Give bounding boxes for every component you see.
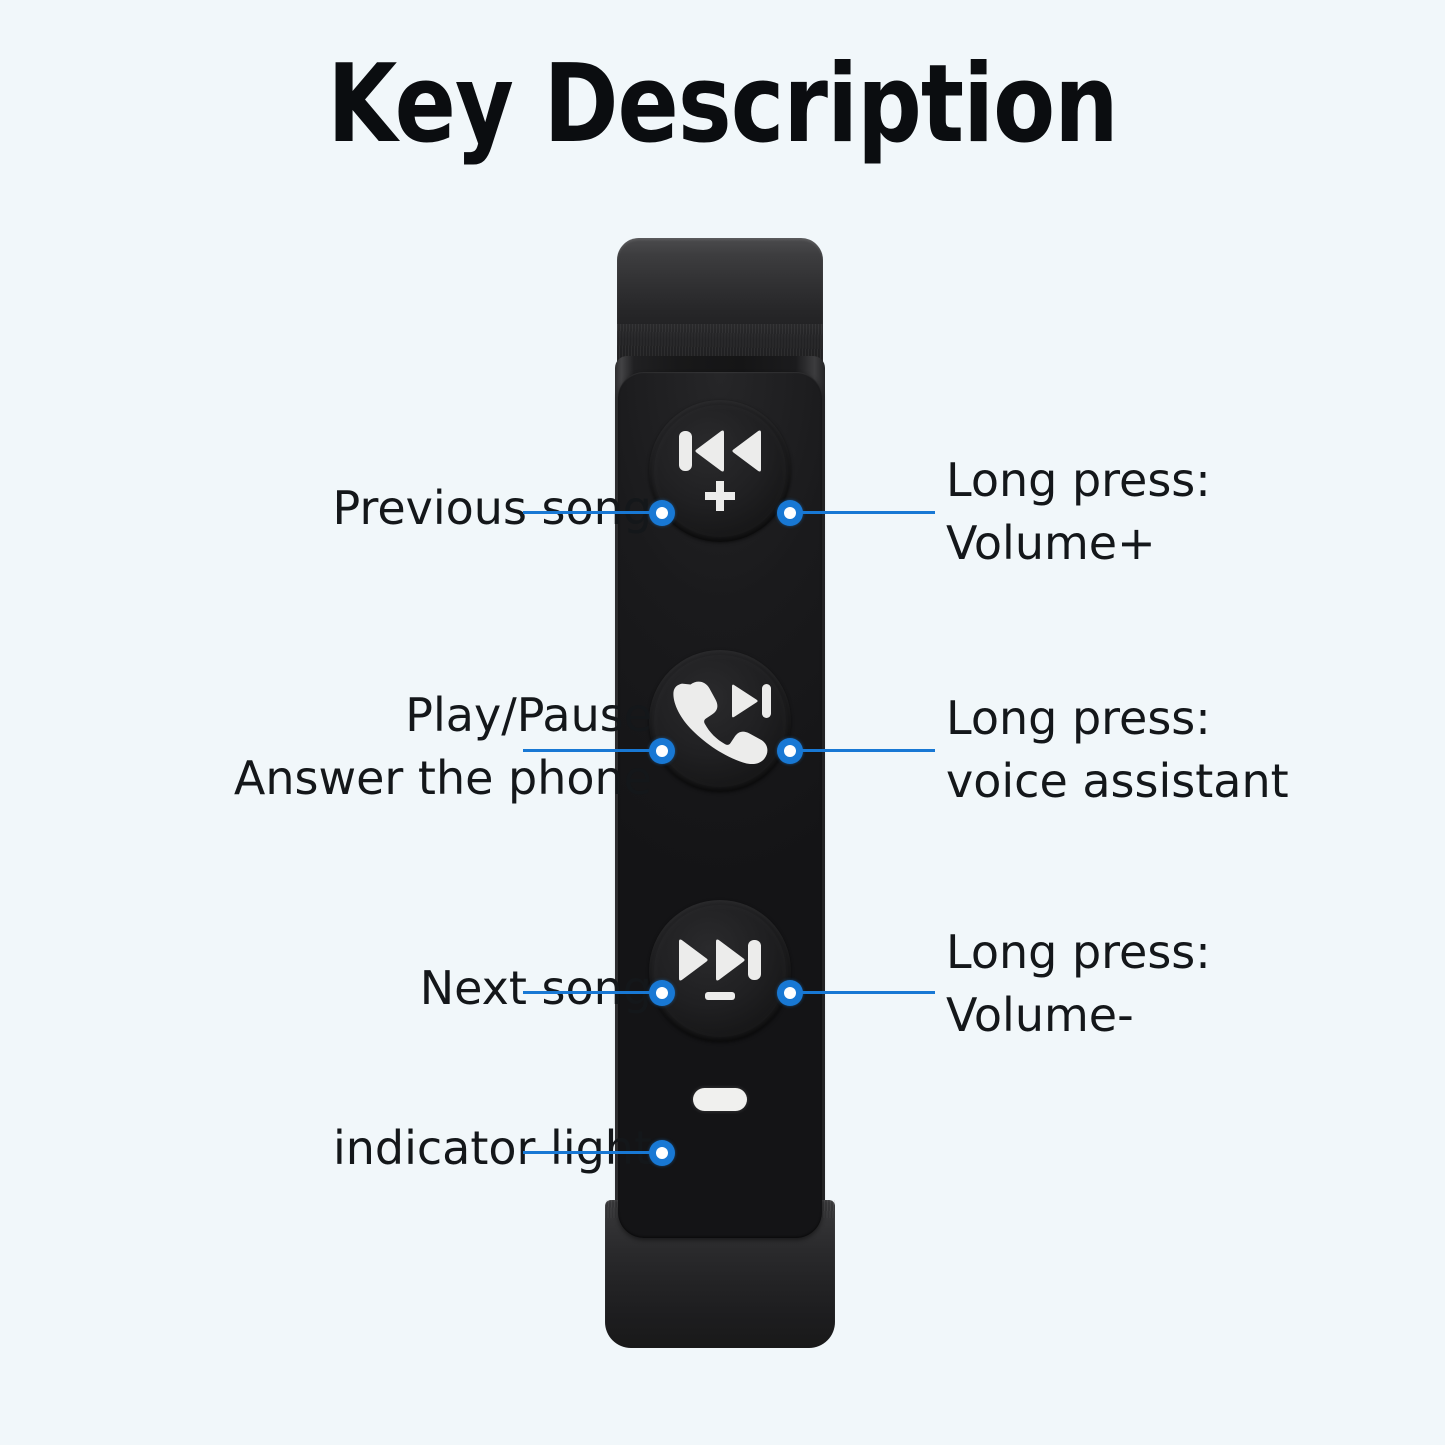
leader-previous-song-left — [523, 511, 655, 514]
leader-next-song-left — [523, 991, 655, 994]
dot-next-song-right — [777, 980, 803, 1006]
label-previous-song: Previous song — [232, 477, 652, 540]
play-pause-answer-button[interactable] — [649, 650, 791, 792]
dot-indicator-light — [649, 1140, 675, 1166]
dot-play-pause-left — [649, 738, 675, 764]
dot-next-song-left — [649, 980, 675, 1006]
previous-song-glyph-stack — [660, 416, 780, 526]
next-song-button[interactable] — [649, 900, 791, 1042]
indicator-light — [693, 1088, 747, 1111]
minus-icon — [703, 988, 737, 1004]
skip-forward-icon — [677, 938, 763, 982]
label-volume-up: Long press: Volume+ — [946, 449, 1386, 576]
label-play-pause: Play/Pause Answer the phone — [92, 684, 652, 811]
page-title: Key Description — [51, 46, 1395, 165]
leader-previous-song-right — [801, 511, 935, 514]
phone-play-pause-icon — [668, 678, 772, 764]
dot-play-pause-right — [777, 738, 803, 764]
play-pause-glyph-stack — [660, 666, 780, 776]
leader-indicator-light — [523, 1151, 655, 1154]
leader-play-pause-left — [523, 749, 655, 752]
leader-play-pause-right — [801, 749, 935, 752]
label-indicator-light: indicator light — [182, 1117, 652, 1180]
dot-previous-song-left — [649, 500, 675, 526]
label-next-song: Next song — [232, 957, 652, 1020]
plus-icon — [703, 479, 737, 513]
skip-backward-icon — [677, 429, 763, 473]
label-voice-assistant: Long press: voice assistant — [946, 687, 1416, 814]
label-volume-down: Long press: Volume- — [946, 921, 1386, 1048]
leader-next-song-right — [801, 991, 935, 994]
next-song-glyph-stack — [660, 916, 780, 1026]
dot-previous-song-right — [777, 500, 803, 526]
